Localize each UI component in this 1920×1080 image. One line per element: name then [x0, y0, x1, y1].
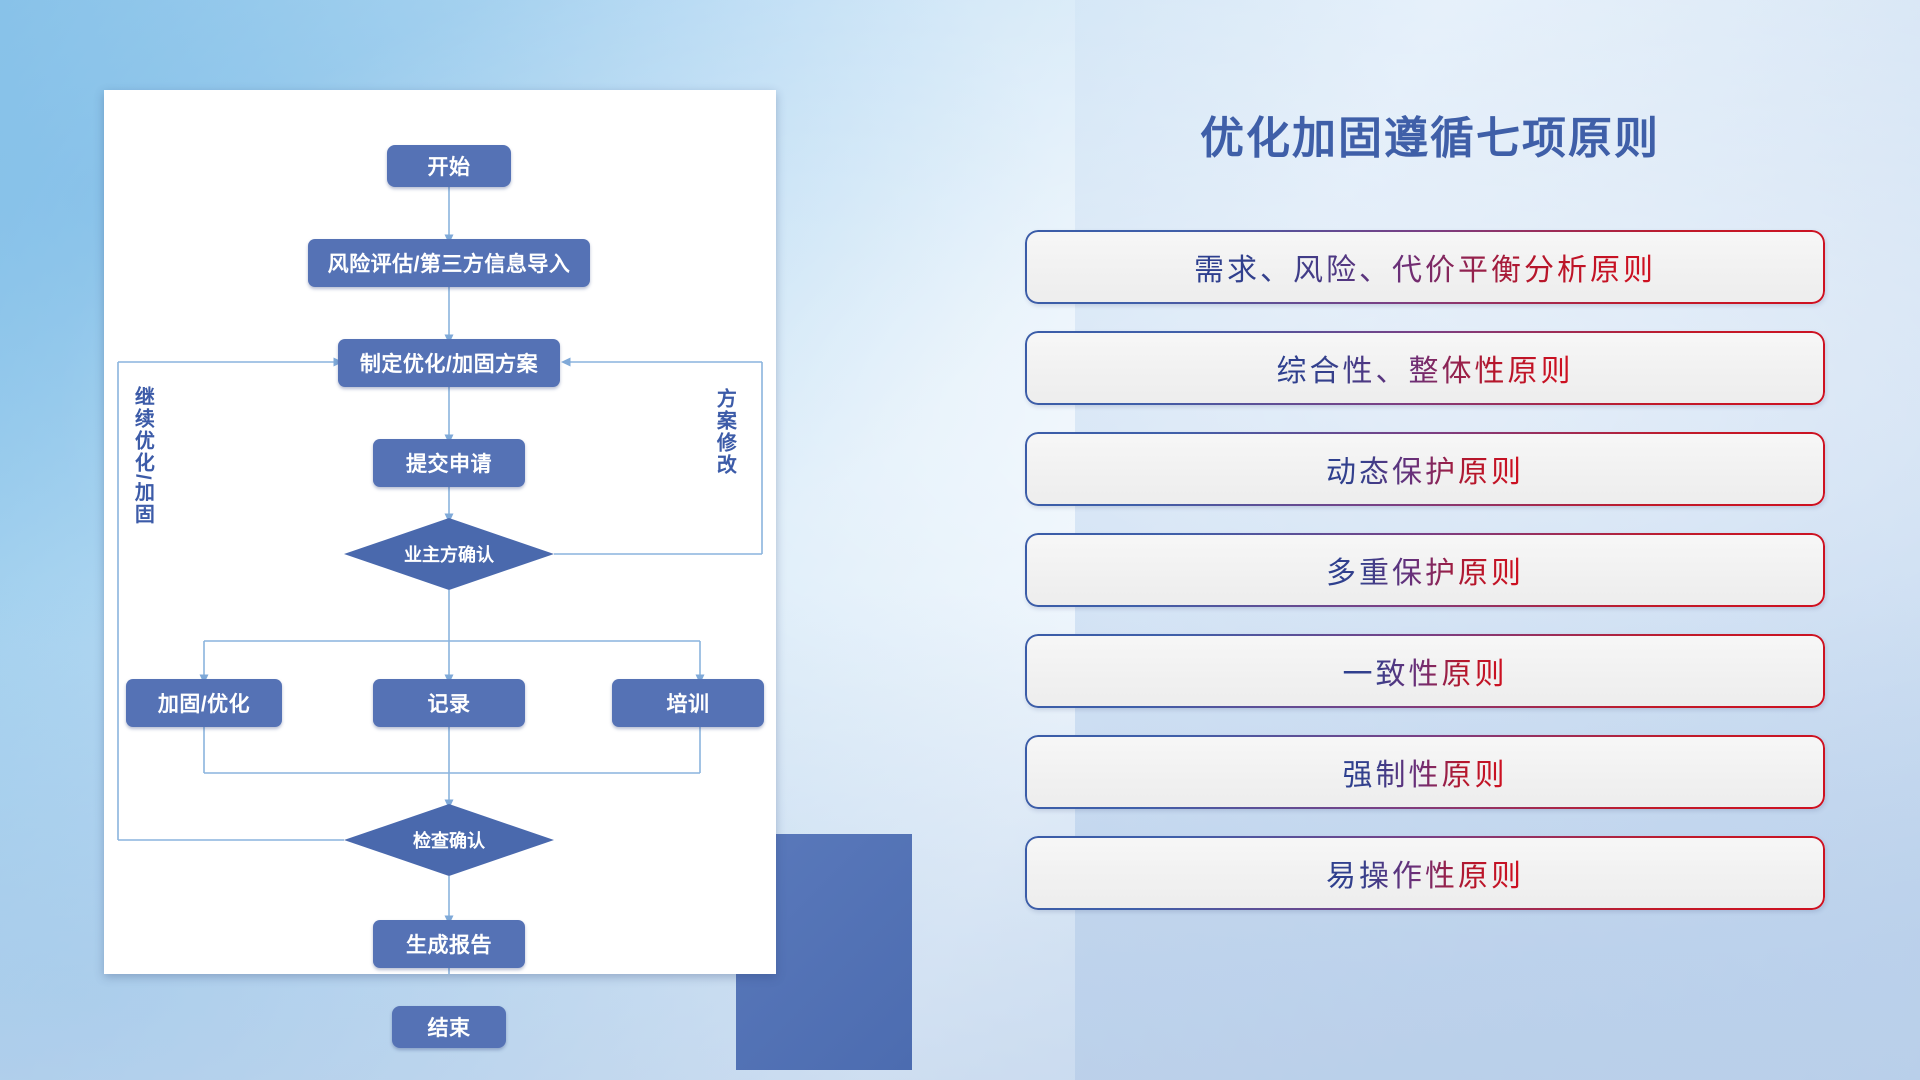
principle-label: 多重保护原则	[1326, 548, 1524, 592]
principles-panel: 优化加固遵循七项原则 需求、风险、代价平衡分析原则 综合性、整体性原则 动态保护…	[1020, 80, 1840, 1020]
flow-node-label: 开始	[428, 151, 471, 181]
flow-node-training[interactable]: 培训	[612, 679, 764, 727]
flow-node-risk-assessment[interactable]: 风险评估/第三方信息导入	[308, 239, 590, 287]
flow-node-generate-report[interactable]: 生成报告	[373, 920, 525, 968]
panel-title: 优化加固遵循七项原则	[1020, 102, 1840, 166]
flow-node-start[interactable]: 开始	[387, 145, 511, 187]
principle-card-4[interactable]: 多重保护原则	[1025, 533, 1825, 607]
flow-node-label: 业主方确认	[404, 541, 494, 567]
principle-card-6[interactable]: 强制性原则	[1025, 735, 1825, 809]
principle-card-5[interactable]: 一致性原则	[1025, 634, 1825, 708]
principle-label: 综合性、整体性原则	[1277, 346, 1574, 390]
flow-edge-label-continue-optimize: 继续优化/加固	[132, 386, 152, 526]
principles-list: 需求、风险、代价平衡分析原则 综合性、整体性原则 动态保护原则 多重保护原则 一…	[1025, 230, 1825, 937]
flow-node-owner-confirm[interactable]: 业主方确认	[344, 518, 554, 590]
flow-node-label: 风险评估/第三方信息导入	[328, 248, 571, 278]
principle-label: 易操作性原则	[1326, 851, 1524, 895]
flow-edge-label-plan-revision: 方案修改	[714, 388, 734, 476]
principle-card-3[interactable]: 动态保护原则	[1025, 432, 1825, 506]
flow-node-inspection-confirm[interactable]: 检查确认	[344, 804, 554, 876]
flow-node-record[interactable]: 记录	[373, 679, 525, 727]
principle-label: 动态保护原则	[1326, 447, 1524, 491]
flowchart-card: 开始 风险评估/第三方信息导入 制定优化/加固方案 提交申请 业主方确认 加固/…	[104, 90, 776, 974]
flow-node-end[interactable]: 结束	[392, 1006, 506, 1048]
principle-label: 需求、风险、代价平衡分析原则	[1194, 245, 1656, 289]
flow-node-reinforce-optimize[interactable]: 加固/优化	[126, 679, 282, 727]
flow-node-label: 检查确认	[413, 827, 485, 853]
principle-label: 一致性原则	[1343, 649, 1508, 693]
principle-card-1[interactable]: 需求、风险、代价平衡分析原则	[1025, 230, 1825, 304]
flow-node-label: 制定优化/加固方案	[360, 348, 538, 378]
principle-card-7[interactable]: 易操作性原则	[1025, 836, 1825, 910]
flowchart-panel: 开始 风险评估/第三方信息导入 制定优化/加固方案 提交申请 业主方确认 加固/…	[104, 90, 784, 974]
flow-node-label: 加固/优化	[158, 688, 250, 718]
principle-card-2[interactable]: 综合性、整体性原则	[1025, 331, 1825, 405]
flow-node-label: 提交申请	[406, 448, 492, 478]
flow-node-label: 结束	[428, 1012, 471, 1042]
flow-node-submit-application[interactable]: 提交申请	[373, 439, 525, 487]
flow-node-label: 记录	[428, 688, 471, 718]
flow-node-make-plan[interactable]: 制定优化/加固方案	[338, 339, 560, 387]
flow-node-label: 生成报告	[406, 929, 492, 959]
principle-label: 强制性原则	[1343, 750, 1508, 794]
flow-node-label: 培训	[667, 688, 710, 718]
